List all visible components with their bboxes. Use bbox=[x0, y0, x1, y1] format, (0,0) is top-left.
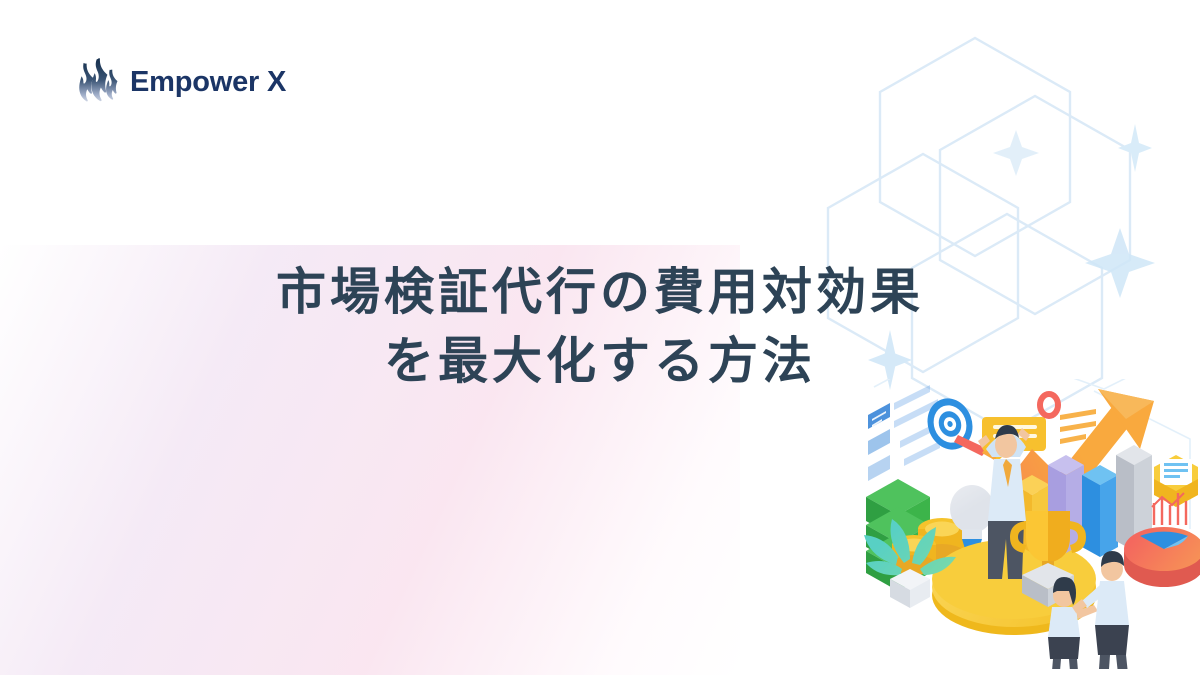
flame-icon bbox=[68, 56, 120, 108]
brand-name: Empower X bbox=[130, 66, 286, 99]
hero-banner: Empower X 市場検証代行の費用対効果 を最大化する方法 bbox=[0, 0, 1200, 675]
brand-logo[interactable]: Empower X bbox=[68, 56, 286, 108]
